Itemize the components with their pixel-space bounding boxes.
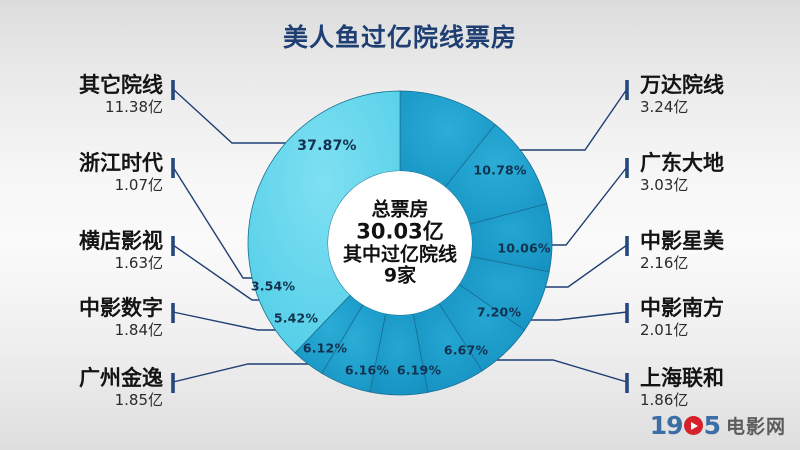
slice-pct-5: 6.19% xyxy=(397,363,441,378)
center-line-2: 30.03亿 xyxy=(343,221,457,245)
center-line-1: 总票房 xyxy=(343,199,457,220)
label-value: 3.24亿 xyxy=(640,98,800,117)
label-left-0[interactable]: 其它院线 11.38亿 xyxy=(0,74,163,117)
slice-pct-3: 7.20% xyxy=(477,305,521,320)
label-right-1[interactable]: 广东大地 3.03亿 xyxy=(640,152,800,195)
label-name: 中影数字 xyxy=(0,297,163,319)
label-value: 2.16亿 xyxy=(640,254,800,273)
label-name: 广东大地 xyxy=(640,152,800,174)
logo-digits-left: 19 xyxy=(650,411,683,440)
label-right-4[interactable]: 上海联和 1.86亿 xyxy=(640,367,800,410)
slice-pct-4: 6.67% xyxy=(444,343,488,358)
logo-text: 电影网 xyxy=(726,412,786,439)
label-name: 浙江时代 xyxy=(0,152,163,174)
slice-pct-2: 10.06% xyxy=(497,241,550,256)
label-value: 1.84亿 xyxy=(0,321,163,340)
center-line-4: 9家 xyxy=(343,265,457,286)
label-left-1[interactable]: 浙江时代 1.07亿 xyxy=(0,152,163,195)
label-value: 2.01亿 xyxy=(640,321,800,340)
label-value: 3.03亿 xyxy=(640,176,800,195)
label-value: 1.07亿 xyxy=(0,176,163,195)
label-name: 上海联和 xyxy=(640,367,800,389)
label-value: 1.85亿 xyxy=(0,391,163,410)
label-left-4[interactable]: 广州金逸 1.85亿 xyxy=(0,367,163,410)
label-left-3[interactable]: 中影数字 1.84亿 xyxy=(0,297,163,340)
logo-mark: 19 5 xyxy=(650,411,720,440)
slice-pct-6: 6.16% xyxy=(345,363,389,378)
label-right-3[interactable]: 中影南方 2.01亿 xyxy=(640,297,800,340)
logo-digits-right: 5 xyxy=(704,411,720,440)
label-name: 其它院线 xyxy=(0,74,163,96)
label-right-2[interactable]: 中影星美 2.16亿 xyxy=(640,230,800,273)
label-value: 1.63亿 xyxy=(0,254,163,273)
label-name: 中影南方 xyxy=(640,297,800,319)
chart-canvas: 美人鱼过亿院线票房 xyxy=(0,0,800,450)
label-value: 1.86亿 xyxy=(640,391,800,410)
label-name: 万达院线 xyxy=(640,74,800,96)
slice-pct-7: 6.12% xyxy=(303,341,347,356)
label-left-2[interactable]: 横店影视 1.63亿 xyxy=(0,230,163,273)
slice-pct-9: 3.54% xyxy=(251,279,295,294)
label-right-0[interactable]: 万达院线 3.24亿 xyxy=(640,74,800,117)
label-name: 横店影视 xyxy=(0,230,163,252)
donut-center-text: 总票房 30.03亿 其中过亿院线 9家 xyxy=(343,199,457,286)
label-name: 广州金逸 xyxy=(0,367,163,389)
label-value: 11.38亿 xyxy=(0,98,163,117)
center-line-3: 其中过亿院线 xyxy=(343,244,457,265)
play-icon xyxy=(684,416,703,435)
slice-pct-8: 5.42% xyxy=(274,311,318,326)
slice-pct-0: 37.87% xyxy=(297,138,357,154)
label-name: 中影星美 xyxy=(640,230,800,252)
site-logo[interactable]: 19 5 电影网 xyxy=(650,411,786,440)
slice-pct-1: 10.78% xyxy=(473,163,526,178)
